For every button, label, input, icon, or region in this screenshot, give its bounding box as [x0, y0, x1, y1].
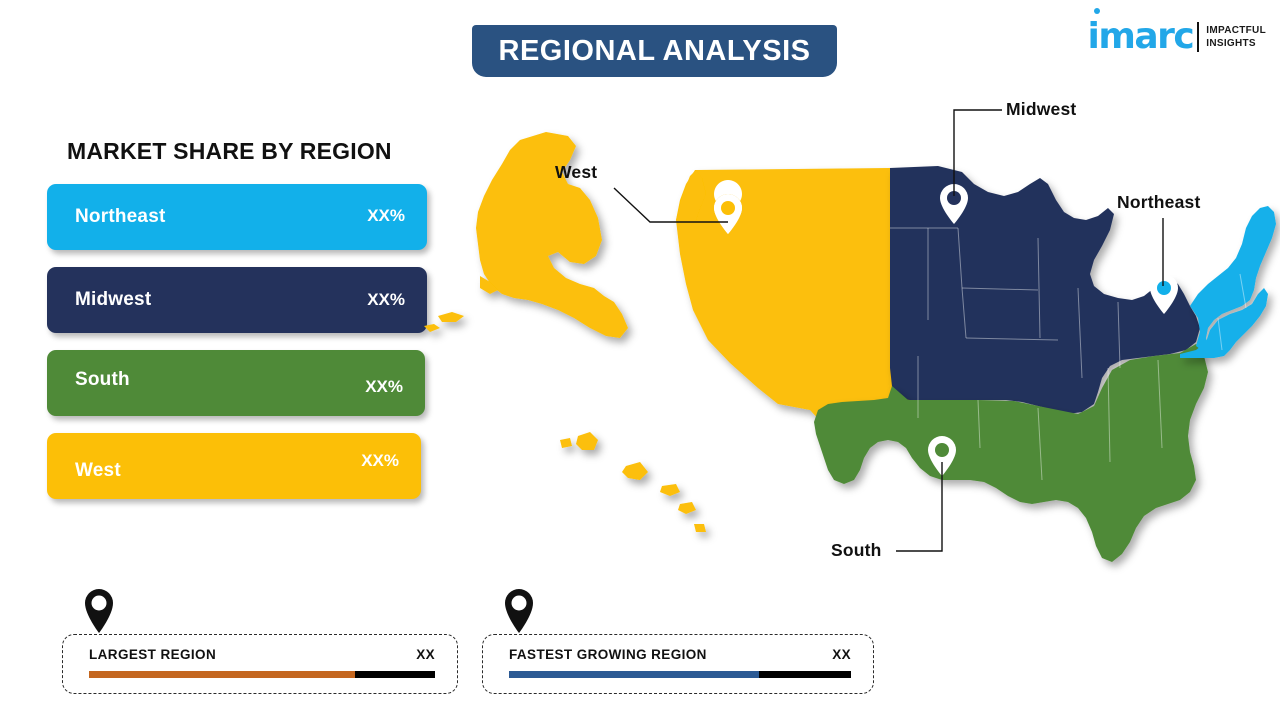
- region-bar-value: XX%: [367, 290, 405, 310]
- region-bar-value: XX%: [365, 377, 403, 397]
- fastest-growing-region-title: FASTEST GROWING REGION: [509, 647, 707, 662]
- largest-region-card[interactable]: LARGEST REGION XX: [62, 634, 458, 694]
- region-bar-west[interactable]: West XX%: [47, 433, 421, 499]
- largest-region-title: LARGEST REGION: [89, 647, 216, 662]
- page-title: REGIONAL ANALYSIS: [499, 35, 811, 68]
- region-bar-value: XX%: [361, 451, 399, 471]
- fastest-growing-region-fill: [509, 671, 759, 678]
- callout-label-south: South: [831, 540, 882, 561]
- region-bar-northeast[interactable]: Northeast XX%: [47, 184, 427, 250]
- largest-region-value: XX: [416, 647, 435, 662]
- logo-divider: [1197, 22, 1199, 52]
- largest-region-row: LARGEST REGION XX: [89, 647, 435, 662]
- region-bar-label: West: [75, 460, 121, 482]
- callout-label-west: West: [555, 162, 597, 183]
- logo-tagline-line1: IMPACTFUL: [1206, 25, 1266, 36]
- logo-tagline: IMPACTFUL INSIGHTS: [1206, 24, 1266, 50]
- region-bar-south[interactable]: South XX%: [47, 350, 425, 416]
- logo-dot-icon: [1094, 8, 1100, 14]
- map-pin-icon: [81, 587, 117, 635]
- logo-wordmark: imarc: [1088, 19, 1194, 55]
- fastest-growing-region-content: FASTEST GROWING REGION XX: [509, 647, 851, 678]
- fastest-growing-region-card[interactable]: FASTEST GROWING REGION XX: [482, 634, 874, 694]
- map-svg: [418, 88, 1280, 588]
- region-share-list: Northeast XX% Midwest XX% South XX% West…: [47, 184, 437, 516]
- fastest-growing-region-row: FASTEST GROWING REGION XX: [509, 647, 851, 662]
- market-share-heading: MARKET SHARE BY REGION: [67, 138, 392, 165]
- regional-analysis-infographic: REGIONAL ANALYSIS imarc IMPACTFUL INSIGH…: [0, 0, 1280, 720]
- region-bar-midwest[interactable]: Midwest XX%: [47, 267, 427, 333]
- region-bar-value: XX%: [367, 206, 405, 226]
- fastest-growing-region-value: XX: [832, 647, 851, 662]
- callout-label-northeast: Northeast: [1117, 192, 1200, 213]
- largest-region-track: [89, 671, 435, 678]
- region-bar-label: South: [75, 369, 130, 391]
- region-bar-label: Midwest: [75, 289, 151, 311]
- callout-label-midwest: Midwest: [1006, 99, 1076, 120]
- map-pin-icon: [501, 587, 537, 635]
- usa-regional-map: [418, 88, 1280, 588]
- logo-tagline-line2: INSIGHTS: [1206, 38, 1256, 49]
- largest-region-content: LARGEST REGION XX: [89, 647, 435, 678]
- region-bar-label: Northeast: [75, 206, 165, 228]
- largest-region-fill: [89, 671, 355, 678]
- imarc-logo: imarc IMPACTFUL INSIGHTS: [1088, 16, 1266, 58]
- fastest-growing-region-track: [509, 671, 851, 678]
- page-title-badge: REGIONAL ANALYSIS: [472, 25, 837, 77]
